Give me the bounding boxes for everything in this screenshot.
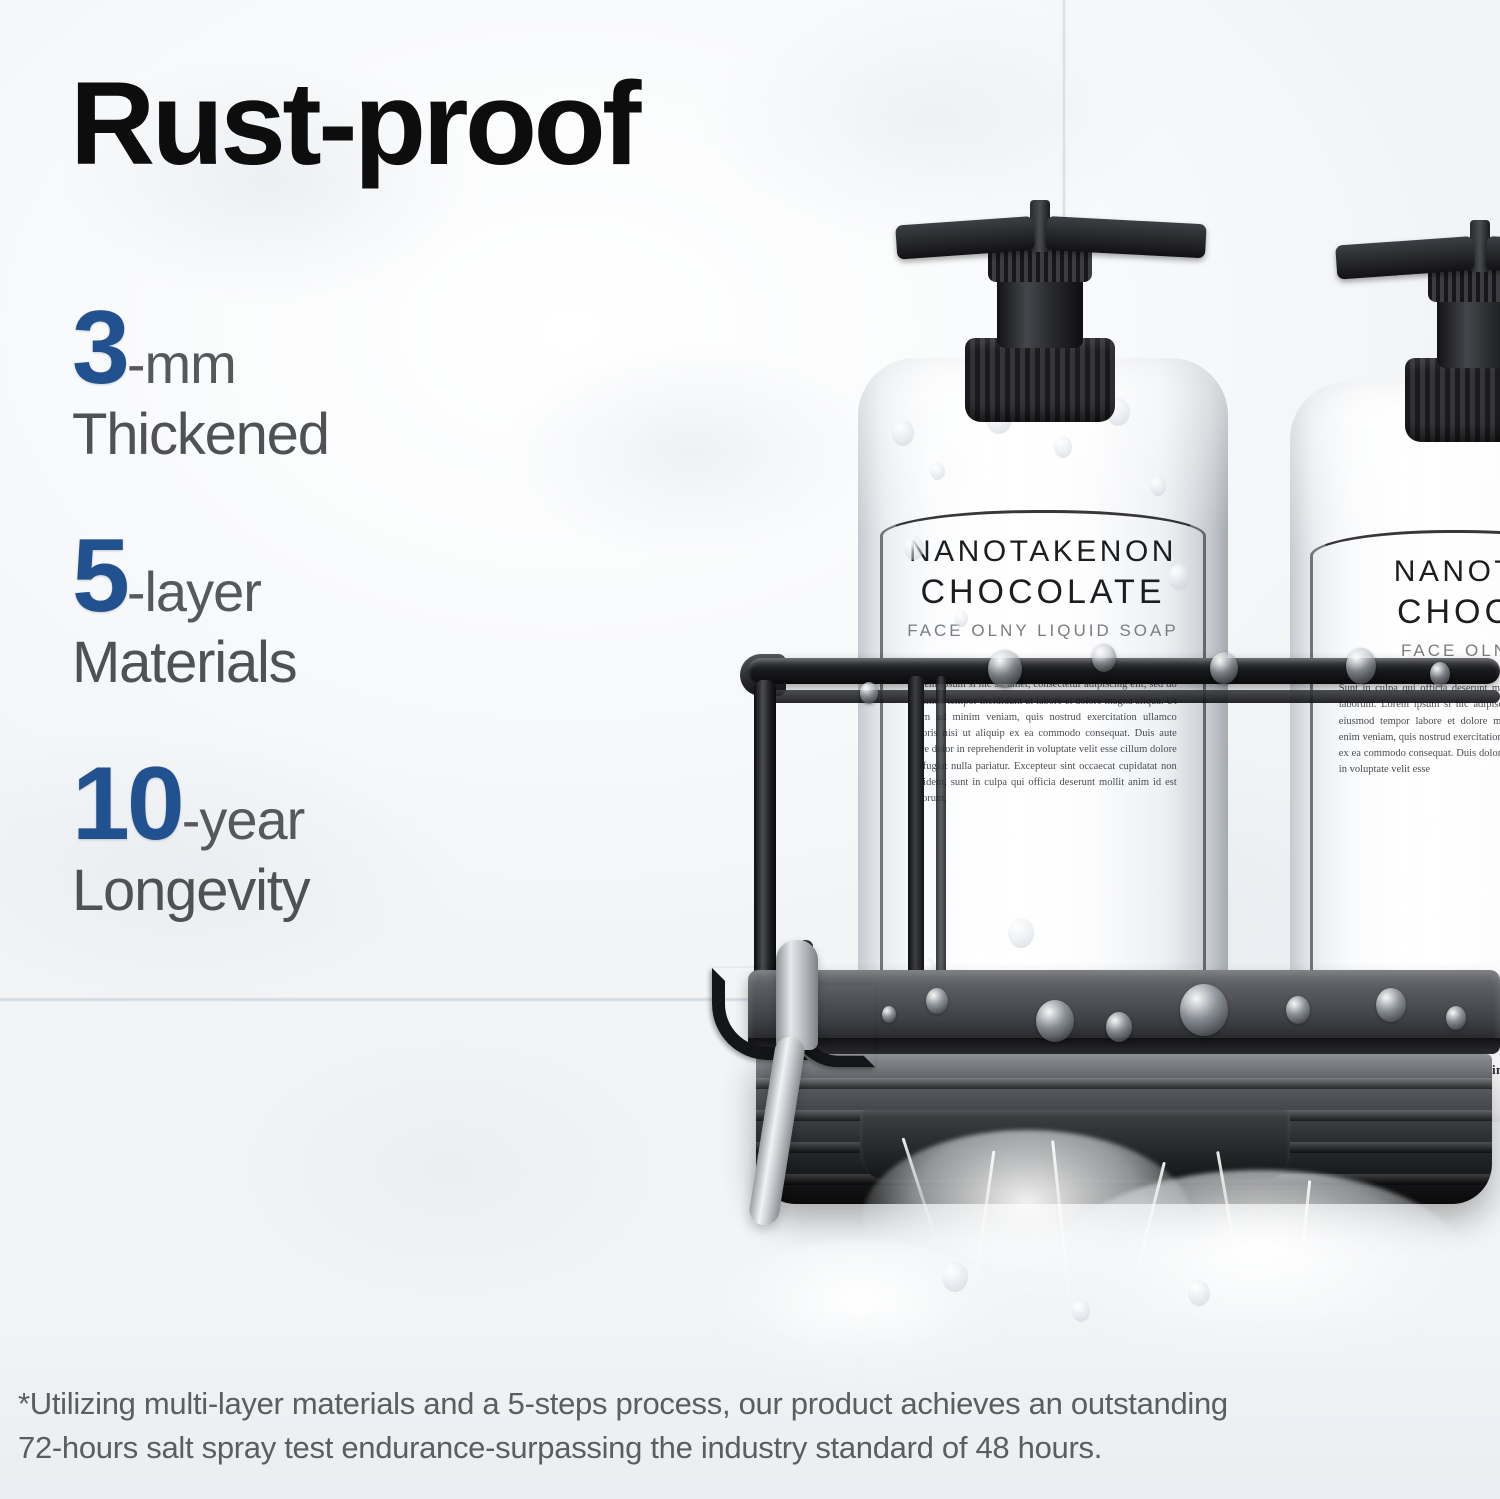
product-photo-scene: NANOT CHOC FACE OLN Sunt in culpa qui of… <box>590 150 1500 1380</box>
caddy-drain-slat <box>756 1078 1492 1089</box>
feature-headline: 10-year <box>72 752 632 856</box>
feature-unit: -layer <box>127 560 261 623</box>
pump-dispenser-secondary[interactable] <box>1350 210 1500 442</box>
feature-item-longevity: 10-year Longevity <box>72 752 632 924</box>
feature-label: Longevity <box>72 858 632 924</box>
feature-number: 5 <box>72 518 127 634</box>
disclaimer-footnote: *Utilizing multi-layer materials and a 5… <box>18 1382 1488 1470</box>
feature-list: 3-mm Thickened 5-layer Materials 10-year… <box>72 296 632 924</box>
water-droplet <box>860 682 878 704</box>
caddy-top-rail <box>748 658 1500 684</box>
water-droplet <box>1346 648 1376 684</box>
water-droplet <box>904 536 924 560</box>
water-droplet <box>1054 436 1072 458</box>
pump-dispenser-primary[interactable] <box>890 172 1190 422</box>
water-droplet <box>1430 662 1450 686</box>
product-feature-graphic: NANOT CHOC FACE OLN Sunt in culpa qui of… <box>0 0 1500 1499</box>
water-droplet <box>1180 984 1228 1036</box>
feature-number: 3 <box>72 290 127 406</box>
water-droplet <box>1286 996 1310 1024</box>
water-droplet <box>942 1262 968 1292</box>
water-droplet <box>882 1006 896 1023</box>
water-droplet <box>930 462 945 480</box>
water-droplet <box>1106 1012 1132 1042</box>
label-subtitle: FACE OLNY LIQUID SOAP <box>883 621 1203 641</box>
water-droplet <box>1446 1006 1466 1030</box>
caddy-vertical-bar-secondary <box>936 676 946 986</box>
feature-label: Materials <box>72 630 632 696</box>
razor-head <box>776 940 818 1050</box>
water-droplet <box>1168 564 1190 590</box>
pump-collar <box>965 338 1115 422</box>
water-droplet <box>1150 476 1166 496</box>
caddy-corner-post <box>754 680 776 980</box>
feature-headline: 3-mm <box>72 296 632 400</box>
label-brand-name: NANOT <box>1313 555 1500 589</box>
water-droplet <box>1092 644 1116 672</box>
feature-item-layers: 5-layer Materials <box>72 524 632 696</box>
water-droplet <box>1376 988 1406 1022</box>
pump-collar <box>1405 358 1500 442</box>
label-variant-name: CHOC <box>1313 593 1500 632</box>
page-title: Rust-proof <box>70 64 638 184</box>
water-droplet <box>1188 1280 1210 1306</box>
water-droplet <box>1036 1000 1074 1042</box>
feature-unit: -year <box>182 788 305 851</box>
water-droplet <box>954 610 968 627</box>
water-droplet <box>892 420 914 446</box>
footnote-line-1: *Utilizing multi-layer materials and a 5… <box>18 1382 1488 1426</box>
feature-headline: 5-layer <box>72 524 632 628</box>
feature-label: Thickened <box>72 402 632 468</box>
footnote-line-2: 72-hours salt spray test endurance-surpa… <box>18 1426 1488 1470</box>
label-variant-name: CHOCOLATE <box>883 573 1203 612</box>
label-brand-name: NANOTAKENON <box>883 535 1203 569</box>
feature-unit: -mm <box>127 332 236 395</box>
water-droplet <box>926 988 948 1014</box>
caddy-vertical-bar <box>908 676 924 986</box>
water-droplet <box>1210 652 1238 684</box>
water-droplet <box>988 650 1022 688</box>
feature-number: 10 <box>72 746 182 862</box>
feature-item-thickness: 3-mm Thickened <box>72 296 632 468</box>
